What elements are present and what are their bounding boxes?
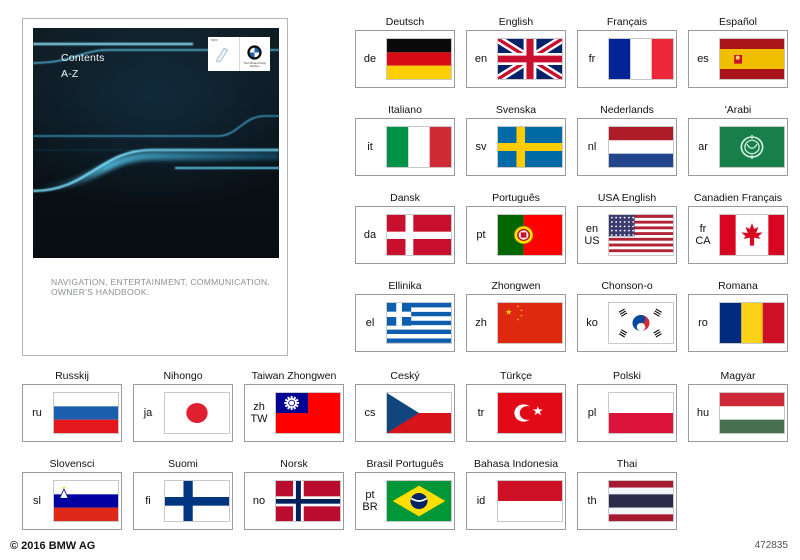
language-name-label: Suomi — [168, 458, 198, 471]
language-code-label: en US — [578, 223, 606, 248]
flag-tile-box: el — [355, 294, 455, 352]
language-tile-tr[interactable]: Türkçetr — [466, 384, 566, 442]
language-tile-hu[interactable]: Magyarhu — [688, 384, 788, 442]
flag-container — [162, 392, 232, 434]
flag-gb-icon — [497, 38, 563, 80]
language-tile-jp[interactable]: Nihongoja — [133, 384, 233, 442]
flag-cz-icon — [386, 392, 452, 434]
flag-tile-box: it — [355, 118, 455, 176]
flag-container — [495, 38, 565, 80]
flag-container — [717, 126, 787, 168]
flag-br-icon — [386, 480, 452, 522]
language-code-label: ja — [134, 407, 162, 420]
bmw-logo: The Ultimate Driving Machine — [239, 37, 271, 71]
flag-tile-box: no — [244, 472, 344, 530]
flag-container — [717, 214, 787, 256]
flag-tile-box: fi — [133, 472, 233, 530]
language-tile-ro[interactable]: Romanaro — [688, 294, 788, 352]
bmw-roundel-icon — [247, 45, 262, 60]
flag-kr-icon — [608, 302, 674, 344]
language-code-label: zh TW — [245, 401, 273, 426]
language-name-label: Slovensci — [50, 458, 95, 471]
language-tile-us[interactable]: USA Englishen US — [577, 206, 677, 264]
language-code-label: tr — [467, 407, 495, 420]
language-code-label: fi — [134, 495, 162, 508]
flag-tr-icon — [497, 392, 563, 434]
language-name-label: USA English — [598, 192, 656, 205]
flag-tile-box: sl — [22, 472, 122, 530]
language-tile-it[interactable]: Italianoit — [355, 118, 455, 176]
flag-container — [606, 392, 676, 434]
language-tile-cn[interactable]: Zhongwenzh — [466, 294, 566, 352]
flag-container — [606, 126, 676, 168]
language-code-label: da — [356, 229, 384, 242]
flag-tile-box: en — [466, 30, 566, 88]
language-name-label: Thai — [617, 458, 637, 471]
flag-container — [51, 392, 121, 434]
flag-dk-icon — [386, 214, 452, 256]
flag-container — [717, 392, 787, 434]
flag-de-icon — [386, 38, 452, 80]
language-tile-id[interactable]: Bahasa Indonesiaid — [466, 472, 566, 530]
flag-tile-box: nl — [577, 118, 677, 176]
flag-container — [384, 38, 454, 80]
cover-title-line2: A-Z — [61, 66, 105, 82]
language-tile-dk[interactable]: Danskda — [355, 206, 455, 264]
language-code-label: ar — [689, 141, 717, 154]
flag-container — [495, 214, 565, 256]
language-code-label: pl — [578, 407, 606, 420]
language-name-label: Türkçe — [500, 370, 532, 383]
flag-container — [273, 480, 343, 522]
flag-tile-box: hu — [688, 384, 788, 442]
flag-container — [495, 302, 565, 344]
flag-pl-icon — [608, 392, 674, 434]
copyright-notice: © 2016 BMW AG — [10, 540, 95, 552]
language-code-label: cs — [356, 407, 384, 420]
language-code-label: el — [356, 317, 384, 330]
language-name-label: Chonson-o — [601, 280, 652, 293]
language-name-label: Romana — [718, 280, 758, 293]
flag-th-icon — [608, 480, 674, 522]
language-code-label: ro — [689, 317, 717, 330]
flag-container — [384, 480, 454, 522]
flag-container — [717, 302, 787, 344]
language-name-label: Français — [607, 16, 647, 29]
cover-logo-pair: BMW The Ultimate Driving Machine — [208, 37, 270, 71]
owners-handbook-cover: Contents A-Z BMW The Ultimate Dri — [22, 18, 288, 356]
flag-ro-icon — [719, 302, 785, 344]
language-name-label: Polski — [613, 370, 641, 383]
language-code-label: sv — [467, 141, 495, 154]
language-name-label: Svenska — [496, 104, 536, 117]
car-icon — [212, 44, 234, 64]
car-thumbnail-caption: BMW — [211, 39, 218, 42]
flag-gr-icon — [386, 302, 452, 344]
flag-container — [384, 126, 454, 168]
language-code-label: id — [467, 495, 495, 508]
language-name-label: Español — [719, 16, 757, 29]
language-tile-kr[interactable]: Chonson-oko — [577, 294, 677, 352]
language-tile-pt[interactable]: Portuguêspt — [466, 206, 566, 264]
language-name-label: Italiano — [388, 104, 422, 117]
flag-container — [495, 126, 565, 168]
flag-it-icon — [386, 126, 452, 168]
flag-id-icon — [497, 480, 563, 522]
flag-container — [384, 214, 454, 256]
flag-container — [384, 302, 454, 344]
language-code-label: th — [578, 495, 606, 508]
flag-nl-icon — [608, 126, 674, 168]
flag-container — [495, 392, 565, 434]
language-tile-th[interactable]: Thaith — [577, 472, 677, 530]
language-tile-es[interactable]: Españoles — [688, 30, 788, 88]
flag-tile-box: ar — [688, 118, 788, 176]
flag-tile-box: fr CA — [688, 206, 788, 264]
bmw-tagline: The Ultimate Driving Machine — [240, 62, 271, 68]
flag-no-icon — [275, 480, 341, 522]
language-name-label: Nederlands — [600, 104, 654, 117]
flag-container — [51, 480, 121, 522]
flag-tile-box: sv — [466, 118, 566, 176]
language-code-label: en — [467, 53, 495, 66]
flag-tile-box: id — [466, 472, 566, 530]
flag-si-icon — [53, 480, 119, 522]
language-code-label: hu — [689, 407, 717, 420]
flag-jp-icon — [164, 392, 230, 434]
language-tile-gb[interactable]: Englishen — [466, 30, 566, 88]
language-tile-pl[interactable]: Polskipl — [577, 384, 677, 442]
car-thumbnail: BMW — [208, 37, 239, 71]
language-code-label: no — [245, 495, 273, 508]
language-name-label: Deutsch — [386, 16, 425, 29]
language-tile-de[interactable]: Deutschde — [355, 30, 455, 88]
flag-es-icon — [719, 38, 785, 80]
flag-tile-box: en US — [577, 206, 677, 264]
flag-container — [384, 392, 454, 434]
flag-us-icon — [608, 214, 674, 256]
language-tile-se[interactable]: Svenskasv — [466, 118, 566, 176]
language-code-label: de — [356, 53, 384, 66]
flag-ru-icon — [53, 392, 119, 434]
flag-hu-icon — [719, 392, 785, 434]
language-tile-tw[interactable]: Taiwan Zhongwenzh TW — [244, 384, 344, 442]
language-code-label: nl — [578, 141, 606, 154]
language-name-label: Ellinika — [388, 280, 421, 293]
language-name-label: 'Arabi — [725, 104, 752, 117]
language-name-label: Brasil Português — [366, 458, 443, 471]
language-tile-gr[interactable]: Ellinikael — [355, 294, 455, 352]
flag-tile-box: es — [688, 30, 788, 88]
language-tile-si[interactable]: Slovenscisl — [22, 472, 122, 530]
flag-tile-box: da — [355, 206, 455, 264]
language-tile-cz[interactable]: Ceskýcs — [355, 384, 455, 442]
flag-tile-box: th — [577, 472, 677, 530]
language-code-label: ko — [578, 317, 606, 330]
language-name-label: Português — [492, 192, 540, 205]
language-code-label: pt BR — [356, 489, 384, 514]
flag-container — [606, 38, 676, 80]
flag-tile-box: zh TW — [244, 384, 344, 442]
flag-fr-icon — [608, 38, 674, 80]
language-tile-fr[interactable]: Françaisfr — [577, 30, 677, 88]
language-tile-br[interactable]: Brasil Portuguêspt BR — [355, 472, 455, 530]
flag-container — [606, 214, 676, 256]
cover-artwork: Contents A-Z BMW The Ultimate Dri — [33, 28, 279, 258]
language-code-label: fr — [578, 53, 606, 66]
flag-tile-box: tr — [466, 384, 566, 442]
language-tile-nl[interactable]: Nederlandsnl — [577, 118, 677, 176]
language-code-label: sl — [23, 495, 51, 508]
language-name-label: Zhongwen — [491, 280, 540, 293]
cover-title: Contents A-Z — [61, 50, 105, 82]
flag-container — [162, 480, 232, 522]
language-code-label: fr CA — [689, 223, 717, 248]
flag-tile-box: zh — [466, 294, 566, 352]
language-name-label: Ceský — [390, 370, 419, 383]
flag-tile-box: ru — [22, 384, 122, 442]
language-name-label: English — [499, 16, 533, 29]
flag-tile-box: pl — [577, 384, 677, 442]
flag-tile-box: fr — [577, 30, 677, 88]
language-code-label: pt — [467, 229, 495, 242]
flag-tile-box: pt BR — [355, 472, 455, 530]
flag-tw-icon — [275, 392, 341, 434]
flag-tile-box: ko — [577, 294, 677, 352]
cover-title-line1: Contents — [61, 50, 105, 66]
language-code-label: ru — [23, 407, 51, 420]
flag-container — [273, 392, 343, 434]
language-name-label: Magyar — [720, 370, 755, 383]
cover-subtitle: NAVIGATION, ENTERTAINMENT, COMMUNICATION… — [51, 277, 273, 298]
language-tile-ar[interactable]: 'Arabiar — [688, 118, 788, 176]
language-code-label: zh — [467, 317, 495, 330]
language-name-label: Canadien Français — [694, 192, 782, 205]
flag-pt-icon — [497, 214, 563, 256]
flag-tile-box: ja — [133, 384, 233, 442]
language-name-label: Bahasa Indonesia — [474, 458, 558, 471]
flag-ar-icon — [719, 126, 785, 168]
flag-tile-box: cs — [355, 384, 455, 442]
language-name-label: Russkij — [55, 370, 89, 383]
language-name-label: Nihongo — [163, 370, 202, 383]
flag-tile-box: de — [355, 30, 455, 88]
language-code-label: es — [689, 53, 717, 66]
language-name-label: Dansk — [390, 192, 420, 205]
language-tile-ru[interactable]: Russkijru — [22, 384, 122, 442]
language-tile-fi[interactable]: Suomifi — [133, 472, 233, 530]
language-name-label: Norsk — [280, 458, 307, 471]
flag-container — [606, 480, 676, 522]
flag-container — [495, 480, 565, 522]
flag-fi-icon — [164, 480, 230, 522]
flag-tile-box: ro — [688, 294, 788, 352]
language-tile-ca[interactable]: Canadien Françaisfr CA — [688, 206, 788, 264]
document-number: 472835 — [755, 540, 788, 551]
flag-cn-icon — [497, 302, 563, 344]
language-name-label: Taiwan Zhongwen — [252, 370, 337, 383]
flag-ca-icon — [719, 214, 785, 256]
flag-container — [717, 38, 787, 80]
flag-container — [606, 302, 676, 344]
flag-se-icon — [497, 126, 563, 168]
language-tile-no[interactable]: Norskno — [244, 472, 344, 530]
language-code-label: it — [356, 141, 384, 154]
flag-tile-box: pt — [466, 206, 566, 264]
